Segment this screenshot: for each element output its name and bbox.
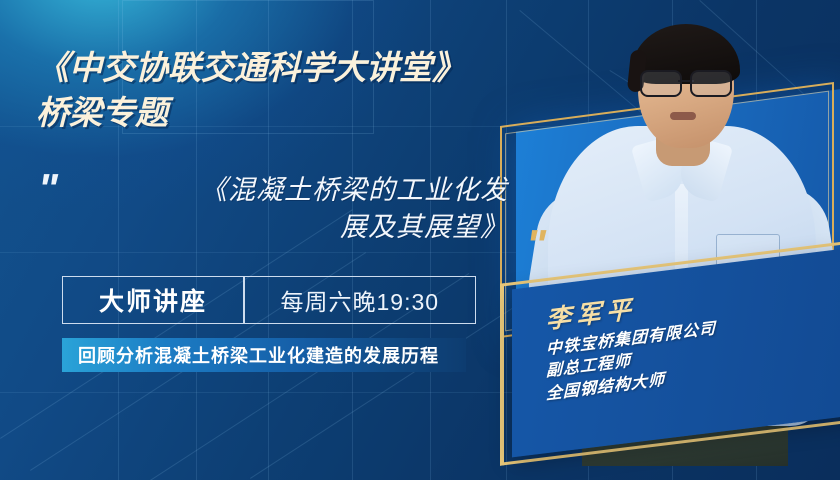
page-title: 《中交协联交通科学大讲堂》 桥梁专题 <box>36 46 556 136</box>
quote-open-icon: " <box>38 168 54 210</box>
badge-time: 每周六晚19:30 <box>245 283 475 317</box>
subtitle-line-1: 《混凝土桥梁的工业化发 <box>88 172 508 209</box>
subtitle-line-2: 展及其展望》 <box>88 209 508 246</box>
description-bar: 回顾分析混凝土桥梁工业化建造的发展历程 <box>62 338 466 372</box>
schedule-badge: 大师讲座 每周六晚19:30 <box>62 276 476 324</box>
title-line-1: 《中交协联交通科学大讲堂》 <box>36 46 556 91</box>
glasses-icon <box>640 70 732 93</box>
subtitle-text: 《混凝土桥梁的工业化发 展及其展望》 <box>88 172 508 247</box>
subtitle-block: " 《混凝土桥梁的工业化发 展及其展望》 " <box>36 168 536 260</box>
badge-label: 大师讲座 <box>63 282 243 318</box>
quote-close-icon: " <box>526 224 542 266</box>
poster-canvas: 《中交协联交通科学大讲堂》 桥梁专题 " 《混凝土桥梁的工业化发 展及其展望》 … <box>0 0 840 480</box>
title-line-2: 桥梁专题 <box>36 91 556 136</box>
description-text: 回顾分析混凝土桥梁工业化建造的发展历程 <box>62 342 439 368</box>
